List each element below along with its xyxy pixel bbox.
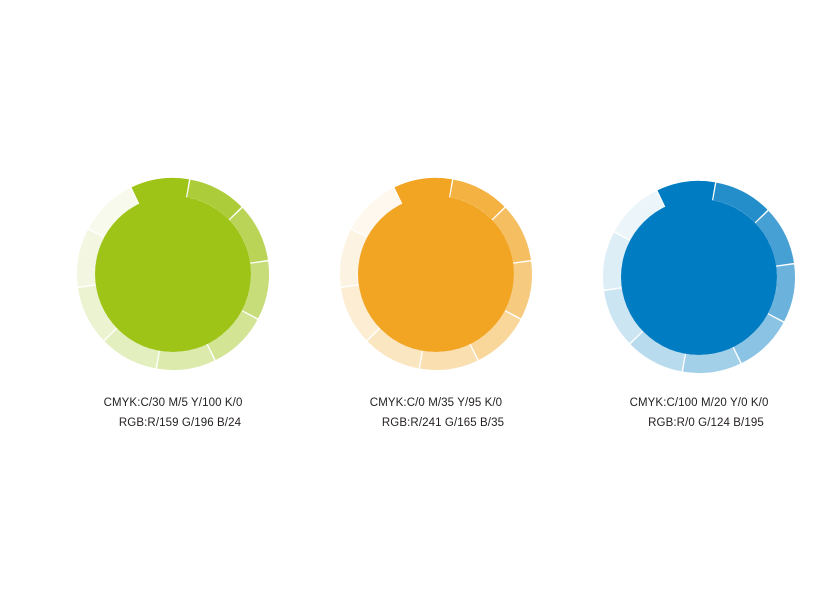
orange-cmyk-label: CMYK:C/0 M/35 Y/95 K/0 (326, 393, 546, 413)
blue-core-disc (621, 199, 777, 355)
orange-core-disc (358, 196, 514, 352)
green-cmyk-label: CMYK:C/30 M/5 Y/100 K/0 (63, 393, 283, 413)
orange-rgb-label: RGB:R/241 G/165 B/35 (326, 413, 546, 433)
green-rgb-label: RGB:R/159 G/196 B/24 (63, 413, 283, 433)
blue-rgb-label: RGB:R/0 G/124 B/195 (589, 413, 809, 433)
color-palette-canvas: CMYK:C/30 M/5 Y/100 K/0RGB:R/159 G/196 B… (0, 0, 838, 597)
blue-caption: CMYK:C/100 M/20 Y/0 K/0RGB:R/0 G/124 B/1… (589, 393, 809, 433)
green-caption: CMYK:C/30 M/5 Y/100 K/0RGB:R/159 G/196 B… (63, 393, 283, 433)
green-core-disc (95, 196, 251, 352)
blue-cmyk-label: CMYK:C/100 M/20 Y/0 K/0 (589, 393, 809, 413)
orange-color-wheel (334, 172, 538, 376)
green-color-wheel (71, 172, 275, 376)
orange-caption: CMYK:C/0 M/35 Y/95 K/0RGB:R/241 G/165 B/… (326, 393, 546, 433)
blue-color-wheel (597, 175, 801, 379)
